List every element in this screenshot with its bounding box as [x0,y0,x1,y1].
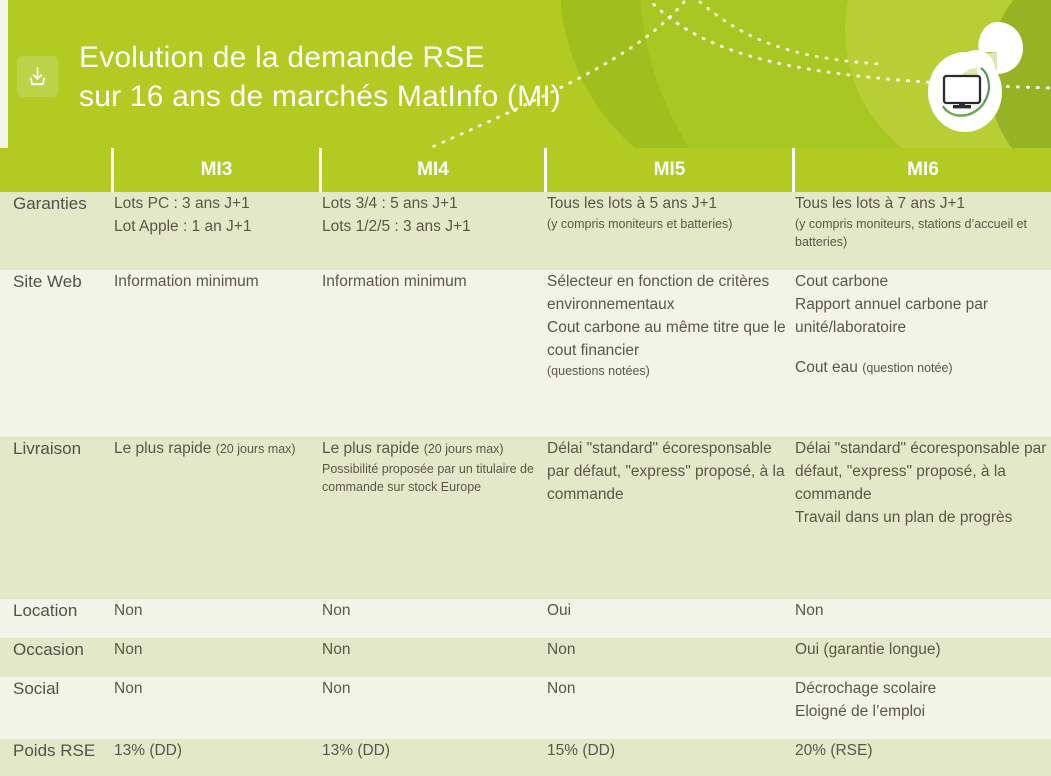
cell-garanties-mi4: Lots 3/4 : 5 ans J+1 Lots 1/2/5 : 3 ans … [322,192,547,270]
column-header-mi6[interactable]: MI6 [795,148,1051,192]
cell-garanties-mi6: Tous les lots à 7 ans J+1 (y compris mon… [795,192,1051,270]
cell-line: Tous les lots à 5 ans J+1 [547,192,795,215]
row-label-occasion: Occasion [0,638,114,677]
cell-line: Cout carbone au même titre que le cout f… [547,316,795,362]
cell-poids-mi6: 20% (RSE) [795,739,1051,776]
cell-occasion-mi5: Non [547,638,795,677]
table-row: Garanties Lots PC : 3 ans J+1 Lot Apple … [0,192,1051,270]
cell-siteweb-mi3: Information minimum [114,270,322,437]
cell-line: Lot Apple : 1 an J+1 [114,215,322,238]
cell-social-mi5: Non [547,677,795,739]
cell-note: Possibilité proposée par un titulaire de… [322,460,547,496]
cell-line: Lots PC : 3 ans J+1 [114,192,322,215]
cell-spacer [795,339,1051,356]
cell-line: Décrochage scolaire [795,677,1051,700]
cell-location-mi3: Non [114,599,322,638]
cell-line: Cout eau [795,359,862,376]
header-banner: Evolution de la demande RSEsur 16 ans de… [0,0,1051,148]
slide-root: Evolution de la demande RSEsur 16 ans de… [0,0,1051,776]
cell-line: Eloigné de l’emploi [795,700,1051,723]
row-label-poids-rse: Poids RSE [0,739,114,776]
cell-note: (questions notées) [547,362,795,380]
cell-line: Le plus rapide [114,440,216,457]
cell-poids-mi3: 13% (DD) [114,739,322,776]
cell-siteweb-mi6: Cout carbone Rapport annuel carbone par … [795,270,1051,437]
cell-livraison-mi6: Délai "standard" écoresponsable par défa… [795,437,1051,599]
cell-livraison-mi4: Le plus rapide (20 jours max) Possibilit… [322,437,547,599]
cell-line: Rapport annuel carbone par unité/laborat… [795,293,1051,339]
cell-garanties-mi3: Lots PC : 3 ans J+1 Lot Apple : 1 an J+1 [114,192,322,270]
cell-line: Information minimum [114,270,322,293]
cell-siteweb-mi4: Information minimum [322,270,547,437]
table-row: Social Non Non Non Décrochage scolaire E… [0,677,1051,739]
cell-line: Lots 1/2/5 : 3 ans J+1 [322,215,547,238]
cell-line: Cout carbone [795,270,1051,293]
page-title: Evolution de la demande RSEsur 16 ans de… [79,38,561,116]
cell-poids-mi5: 15% (DD) [547,739,795,776]
column-header-blank [0,148,114,192]
table-header-row: MI3 MI4 MI5 MI6 [0,148,1051,192]
table-row: Occasion Non Non Non Oui (garantie longu… [0,638,1051,677]
cell-occasion-mi3: Non [114,638,322,677]
cell-note: (question notée) [862,361,952,375]
table-row: Poids RSE 13% (DD) 13% (DD) 15% (DD) 20%… [0,739,1051,776]
column-header-mi4[interactable]: MI4 [322,148,547,192]
table-row: Location Non Non Oui Non [0,599,1051,638]
cell-line: Lots 3/4 : 5 ans J+1 [322,192,547,215]
table-row: Site Web Information minimum Information… [0,270,1051,437]
banner-left-edge [0,0,8,148]
cell-note: (y compris moniteurs et batteries) [547,215,795,233]
row-label-livraison: Livraison [0,437,114,599]
comparison-table: MI3 MI4 MI5 MI6 Garanties Lots PC : 3 an… [0,148,1051,776]
cell-siteweb-mi5: Sélecteur en fonction de critères enviro… [547,270,795,437]
column-header-mi5[interactable]: MI5 [547,148,795,192]
cell-location-mi6: Non [795,599,1051,638]
cell-social-mi4: Non [322,677,547,739]
cell-line: Tous les lots à 7 ans J+1 [795,192,1051,215]
row-label-site-web: Site Web [0,270,114,437]
row-label-location: Location [0,599,114,638]
matinfo-logo [915,18,1025,136]
cell-social-mi6: Décrochage scolaire Eloigné de l’emploi [795,677,1051,739]
cell-line: Information minimum [322,270,547,293]
cell-occasion-mi4: Non [322,638,547,677]
cell-garanties-mi5: Tous les lots à 5 ans J+1 (y compris mon… [547,192,795,270]
column-header-mi3[interactable]: MI3 [114,148,322,192]
cell-line: Le plus rapide [322,440,424,457]
cell-livraison-mi3: Le plus rapide (20 jours max) [114,437,322,599]
table-row: Livraison Le plus rapide (20 jours max) … [0,437,1051,599]
cell-note: (20 jours max) [216,442,296,456]
cell-poids-mi4: 13% (DD) [322,739,547,776]
cell-note: (20 jours max) [424,442,504,456]
cell-location-mi4: Non [322,599,547,638]
cell-line: Délai "standard" écoresponsable par défa… [547,437,795,506]
cell-note: (y compris moniteurs, stations d’accueil… [795,215,1051,251]
download-button[interactable] [17,56,58,97]
row-label-social: Social [0,677,114,739]
cell-line: Travail dans un plan de progrès [795,506,1051,529]
cell-line: Sélecteur en fonction de critères enviro… [547,270,795,316]
row-label-garanties: Garanties [0,192,114,270]
page-title-line1: Evolution de la demande RSE [79,41,485,74]
cell-livraison-mi5: Délai "standard" écoresponsable par défa… [547,437,795,599]
cell-location-mi5: Oui [547,599,795,638]
cell-social-mi3: Non [114,677,322,739]
cell-occasion-mi6: Oui (garantie longue) [795,638,1051,677]
page-title-line2: sur 16 ans de marchés MatInfo (MI) [79,80,561,113]
download-icon [26,65,49,88]
cell-line: Délai "standard" écoresponsable par défa… [795,437,1051,506]
